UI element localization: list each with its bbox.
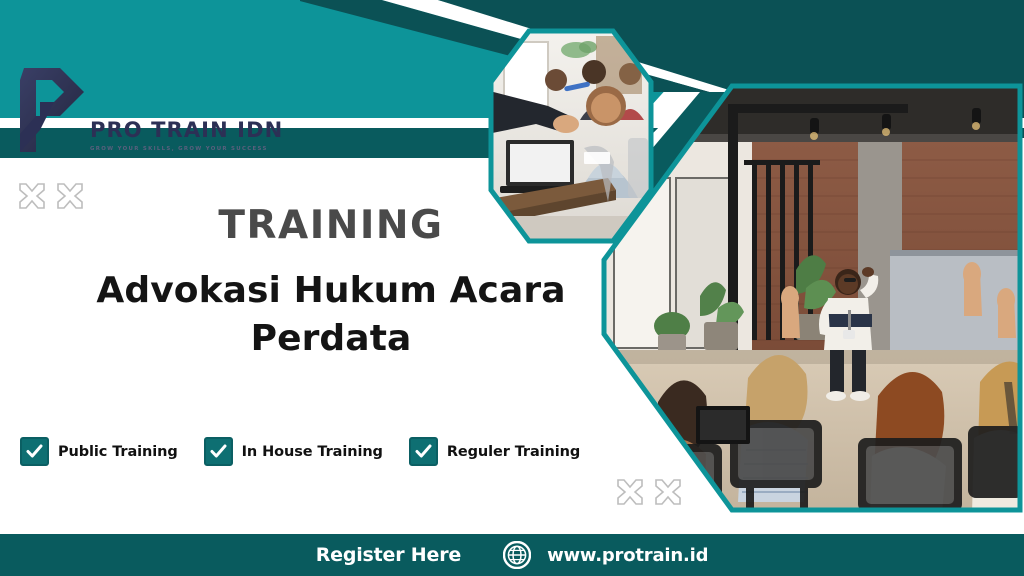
training-type-reguler[interactable]: Reguler Training [409, 437, 580, 466]
footer-register-bar: Register Here www.protrain.id [0, 534, 1024, 576]
page-title: Advokasi Hukum Acara Perdata [46, 267, 616, 362]
brand-logo: PRO TRAIN IDN GROW YOUR SKILLS, GROW YOU… [14, 62, 283, 158]
seminar-photo [600, 82, 1024, 514]
checkbox-checked-icon[interactable] [204, 437, 233, 466]
brand-name: PRO TRAIN IDN [90, 120, 283, 141]
checkbox-checked-icon[interactable] [20, 437, 49, 466]
training-type-label: Public Training [58, 444, 178, 460]
training-type-label: Reguler Training [447, 444, 580, 460]
training-type-public[interactable]: Public Training [20, 437, 178, 466]
globe-icon [503, 541, 531, 569]
checkbox-checked-icon[interactable] [409, 437, 438, 466]
training-promo-banner: PRO TRAIN IDN GROW YOUR SKILLS, GROW YOU… [0, 0, 1024, 576]
website-url[interactable]: www.protrain.id [547, 545, 708, 566]
protrain-arrow-logo-icon [14, 62, 88, 158]
training-type-label: In House Training [242, 444, 383, 460]
brand-tagline: GROW YOUR SKILLS, GROW YOUR SUCCESS [90, 146, 283, 152]
training-types-list: Public Training In House Training Regule… [20, 437, 606, 466]
training-type-in-house[interactable]: In House Training [204, 437, 383, 466]
register-here-label[interactable]: Register Here [316, 544, 461, 566]
